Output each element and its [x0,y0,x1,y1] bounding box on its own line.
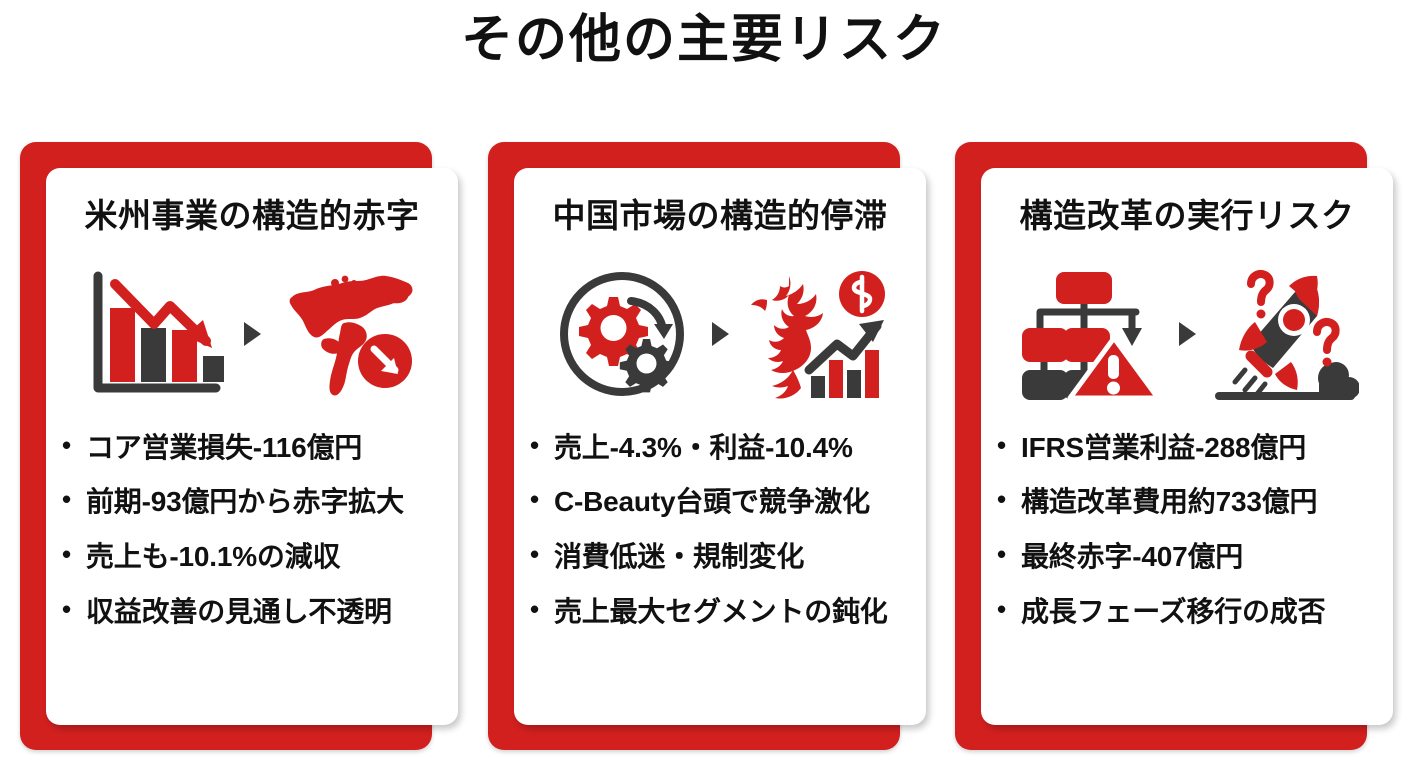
bullet-marker: • [530,538,539,571]
list-item: •消費低迷・規制変化 [554,539,910,575]
list-item: •売上最大セグメントの鈍化 [554,594,910,630]
card-bullet-list: •IFRS営業利益-288億円 •構造改革費用約733億円 •最終赤字-407億… [995,430,1379,630]
list-item: •構造改革費用約733億円 [1021,484,1377,520]
bullet-marker: • [997,593,1006,626]
list-item-label: 前期-93億円から赤字拡大 [86,486,404,517]
bullet-marker: • [62,593,71,626]
rocket-question-icon [1210,259,1360,409]
list-item: •最終赤字-407億円 [1021,539,1377,575]
list-item-label: 成長フェーズ移行の成否 [1021,596,1325,627]
risk-cards-row: 米州事業の構造的赤字 [0,142,1408,762]
list-item: •コア営業損失-116億円 [86,430,442,466]
risk-card-restructuring[interactable]: 構造改革の実行リスク [955,142,1393,754]
list-item: •売上も-10.1%の減収 [86,539,442,575]
bullet-marker: • [997,429,1006,462]
list-item-label: 売上も-10.1%の減収 [86,541,340,572]
list-item: •成長フェーズ移行の成否 [1021,594,1377,630]
list-item-label: 構造改革費用約733億円 [1021,486,1317,517]
risk-card-americas[interactable]: 米州事業の構造的赤字 [20,142,458,754]
card-panel: 中国市場の構造的停滞 [514,168,926,725]
list-item: •前期-93億円から赤字拡大 [86,484,442,520]
americas-map-down-arrow-icon [275,259,425,409]
bullet-marker: • [530,593,539,626]
card-bullet-list: •売上-4.3%・利益-10.4% •C-Beauty台頭で競争激化 •消費低迷… [528,430,912,630]
card-panel: 米州事業の構造的赤字 [46,168,458,725]
triangle-right-icon [1170,314,1204,354]
bullet-marker: • [997,483,1006,516]
bullet-marker: • [62,483,71,516]
triangle-right-icon [235,314,269,354]
org-chart-warning-icon [1014,259,1164,409]
list-item-label: 収益改善の見通し不透明 [86,596,392,627]
card-title: 米州事業の構造的赤字 [60,196,444,236]
page-title: その他の主要リスク [0,8,1408,73]
card-bullet-list: •コア営業損失-116億円 •前期-93億円から赤字拡大 •売上も-10.1%の… [60,430,444,630]
risk-card-china[interactable]: 中国市場の構造的停滞 [488,142,926,754]
list-item: •IFRS営業利益-288億円 [1021,430,1377,466]
card-title: 中国市場の構造的停滞 [528,196,912,236]
card-panel: 構造改革の実行リスク [981,168,1393,725]
list-item-label: 消費低迷・規制変化 [554,541,804,572]
list-item-label: コア営業損失-116億円 [86,432,362,463]
bullet-marker: • [62,429,71,462]
dragon-growth-chart-icon [743,259,893,409]
card-icon-row [995,254,1379,414]
list-item-label: 売上-4.3%・利益-10.4% [554,432,853,463]
bullet-marker: • [530,429,539,462]
list-item: •C-Beauty台頭で競争激化 [554,484,910,520]
declining-bar-chart-icon [79,259,229,409]
list-item-label: C-Beauty台頭で競争激化 [554,486,870,517]
list-item-label: 売上最大セグメントの鈍化 [554,596,888,627]
bullet-marker: • [62,538,71,571]
list-item-label: IFRS営業利益-288億円 [1021,432,1306,463]
bullet-marker: • [997,538,1006,571]
gears-cycle-icon [547,259,697,409]
card-icon-row [60,254,444,414]
list-item: •売上-4.3%・利益-10.4% [554,430,910,466]
list-item-label: 最終赤字-407億円 [1021,541,1243,572]
bullet-marker: • [530,483,539,516]
card-title: 構造改革の実行リスク [995,196,1379,236]
list-item: •収益改善の見通し不透明 [86,594,442,630]
triangle-right-icon [703,314,737,354]
card-icon-row [528,254,912,414]
